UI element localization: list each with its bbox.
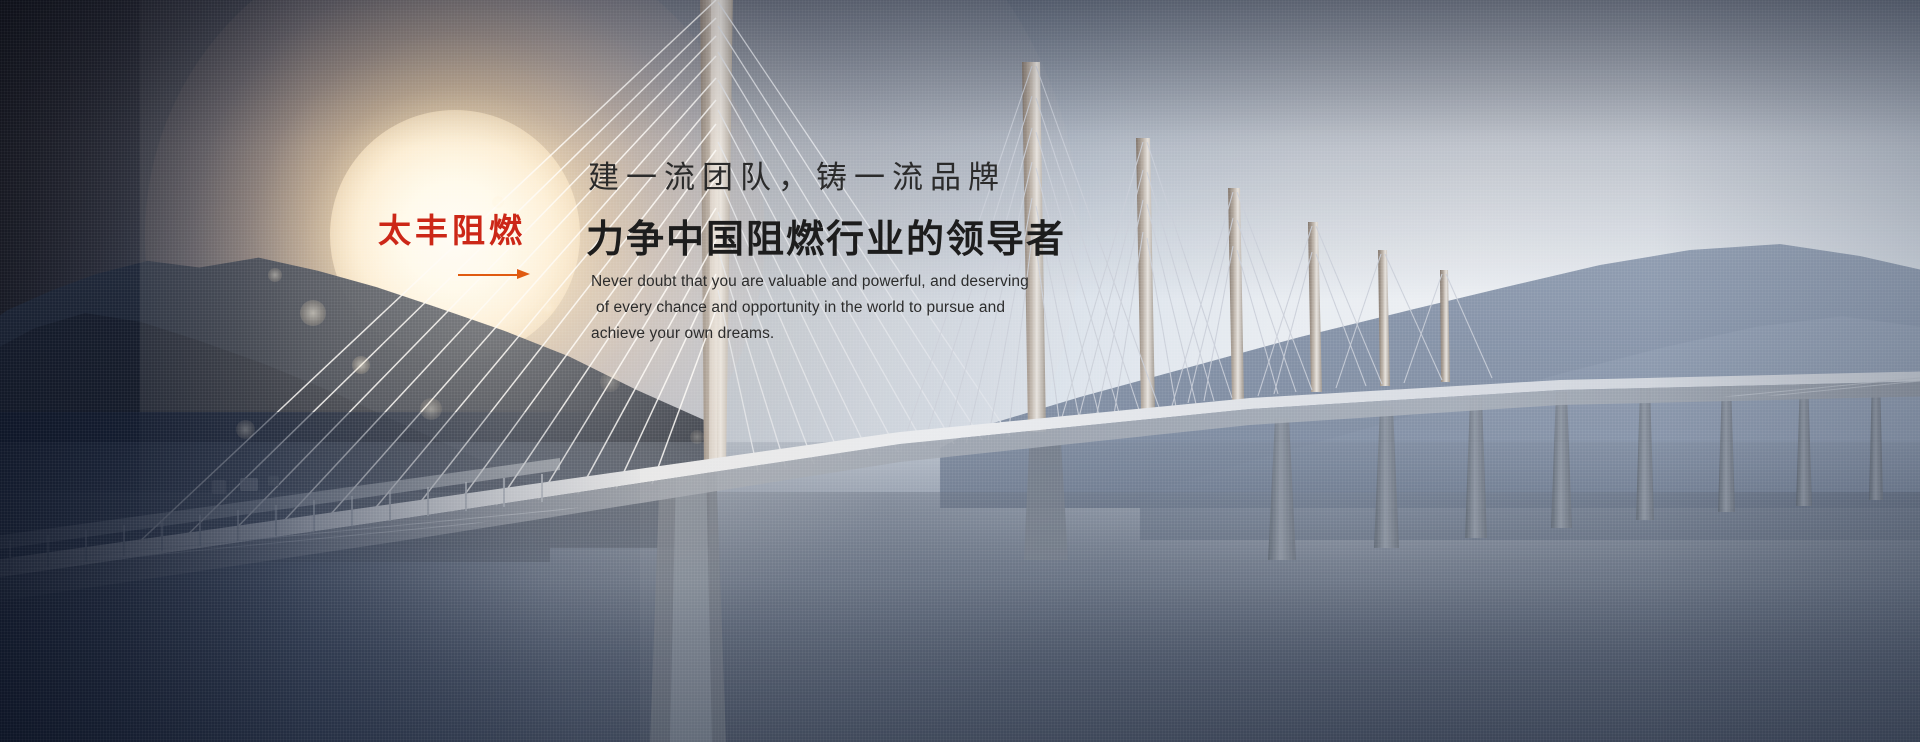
brand-logo[interactable]: 太丰阻燃 bbox=[378, 214, 548, 281]
paragraph-line-1: Never doubt that you are valuable and po… bbox=[591, 269, 1061, 295]
arrow-shaft bbox=[458, 274, 522, 276]
banner-content: 太丰阻燃 建一流团队，铸一流品牌 力争中国阻燃行业的领导者 Never doub… bbox=[0, 0, 1920, 742]
banner-paragraph: Never doubt that you are valuable and po… bbox=[591, 269, 1061, 347]
brand-logo-text: 太丰阻燃 bbox=[378, 214, 548, 247]
paragraph-line-2: of every chance and opportunity in the w… bbox=[591, 295, 1061, 321]
paragraph-line-3: achieve your own dreams. bbox=[591, 321, 1061, 347]
arrow-head bbox=[517, 269, 530, 279]
banner-headline-secondary: 力争中国阻燃行业的领导者 bbox=[586, 208, 1066, 263]
arrow-right-icon bbox=[458, 269, 530, 281]
hero-banner: 太丰阻燃 建一流团队，铸一流品牌 力争中国阻燃行业的领导者 Never doub… bbox=[0, 0, 1920, 742]
banner-headline-primary: 建一流团队，铸一流品牌 bbox=[588, 152, 1006, 197]
